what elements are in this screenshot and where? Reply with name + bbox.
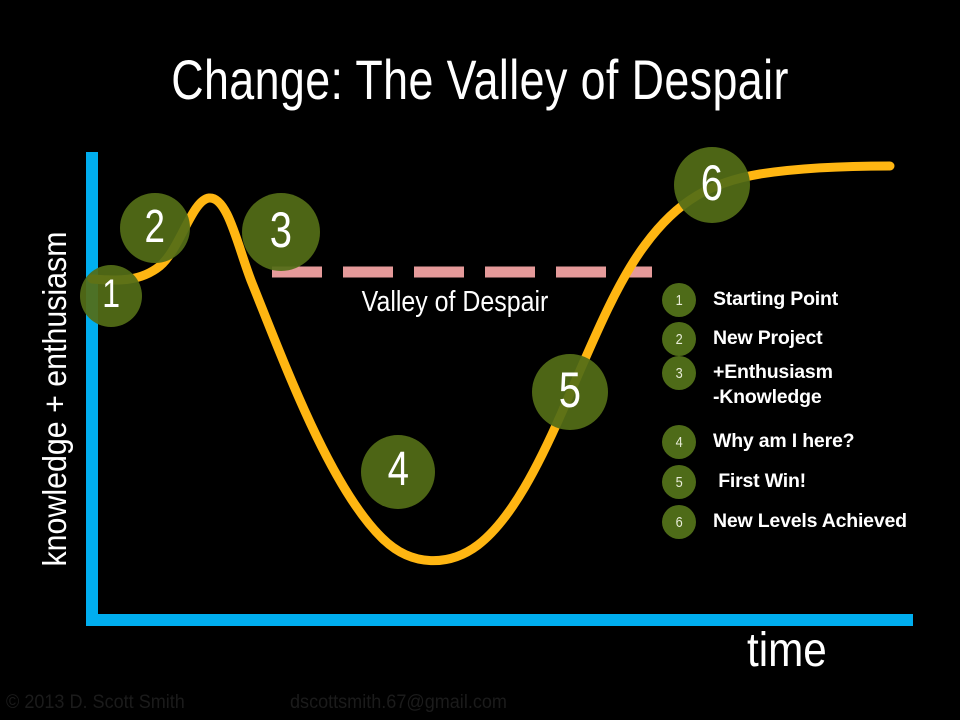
legend-badge-3: 3 xyxy=(662,356,696,390)
legend-label-4: Why am I here? xyxy=(713,425,854,454)
legend-label-2: New Project xyxy=(713,322,822,351)
curve-marker-3[interactable]: 3 xyxy=(242,193,320,271)
x-axis-label: time xyxy=(747,627,827,675)
y-axis-line xyxy=(86,152,98,622)
copyright-notice: © 2013 D. Scott Smith xyxy=(6,692,185,714)
y-axis-label: knowledge + enthusiasm xyxy=(36,160,74,638)
curve-marker-4[interactable]: 4 xyxy=(361,435,435,509)
legend-badge-5: 5 xyxy=(662,465,696,499)
legend-label-6: New Levels Achieved xyxy=(713,505,907,534)
curve-marker-6[interactable]: 6 xyxy=(674,147,750,223)
curve-marker-2[interactable]: 2 xyxy=(120,193,190,263)
legend-item-5[interactable]: 5 First Win! xyxy=(662,465,806,499)
legend-badge-6: 6 xyxy=(662,505,696,539)
legend-badge-2-number: 2 xyxy=(675,331,682,348)
curve-marker-5[interactable]: 5 xyxy=(532,354,608,430)
curve-marker-4-label: 4 xyxy=(387,446,408,494)
legend-badge-1-number: 1 xyxy=(675,292,682,309)
legend-badge-4: 4 xyxy=(662,425,696,459)
legend-label-1: Starting Point xyxy=(713,283,838,312)
slide-canvas: Change: The Valley of Despair knowledge … xyxy=(0,0,960,720)
contact-email: dscottsmith.67@gmail.com xyxy=(290,692,507,714)
legend-badge-6-number: 6 xyxy=(675,514,682,531)
legend-item-3[interactable]: 3 +Enthusiasm -Knowledge xyxy=(662,356,833,410)
curve-marker-1-label: 1 xyxy=(102,274,120,314)
legend-label-3: +Enthusiasm -Knowledge xyxy=(713,356,833,410)
legend-label-5: First Win! xyxy=(713,465,806,494)
curve-marker-6-label: 6 xyxy=(701,158,723,208)
curve-marker-2-label: 2 xyxy=(145,203,165,249)
legend-badge-5-number: 5 xyxy=(675,474,682,491)
curve-marker-1[interactable]: 1 xyxy=(80,265,142,327)
legend-item-6[interactable]: 6 New Levels Achieved xyxy=(662,505,907,539)
legend-badge-1: 1 xyxy=(662,283,696,317)
curve-marker-3-label: 3 xyxy=(270,205,292,255)
legend-item-2[interactable]: 2 New Project xyxy=(662,322,822,356)
curve-marker-5-label: 5 xyxy=(559,365,581,415)
valley-of-despair-label: Valley of Despair xyxy=(283,288,627,317)
legend-badge-2: 2 xyxy=(662,322,696,356)
legend-badge-3-number: 3 xyxy=(675,365,682,382)
legend-item-4[interactable]: 4 Why am I here? xyxy=(662,425,854,459)
legend-badge-4-number: 4 xyxy=(675,434,682,451)
legend-item-1[interactable]: 1 Starting Point xyxy=(662,283,838,317)
